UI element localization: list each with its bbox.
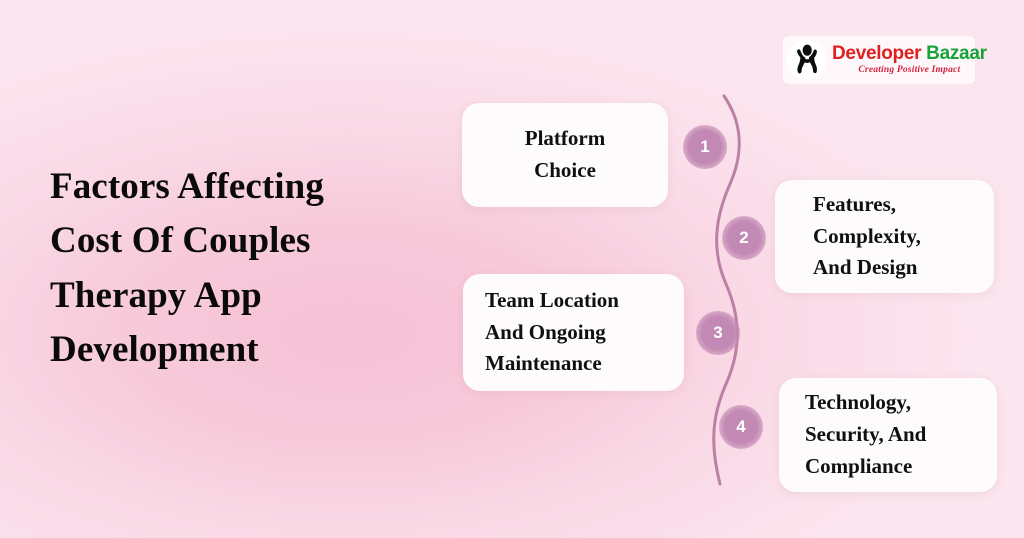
step-badge-4: 4 xyxy=(719,405,763,449)
factor-card-technology-security-compliance: Technology, Security, And Compliance xyxy=(779,378,997,492)
step-badge-2: 2 xyxy=(722,216,766,260)
person-figure-icon xyxy=(787,40,827,80)
step-badge-1: 1 xyxy=(683,125,727,169)
page-title: Factors Affecting Cost Of Couples Therap… xyxy=(50,160,430,378)
brand-logo-text: Developer Bazaar Creating Positive Impac… xyxy=(832,44,987,76)
heading-line-4: Development xyxy=(50,323,430,377)
factor-card-1-line-1: Platform xyxy=(525,123,605,155)
factor-card-3-text: Team Location And Ongoing Maintenance xyxy=(485,285,619,381)
factor-card-1-text: Platform Choice xyxy=(525,123,605,187)
factor-card-2-line-2: Complexity, xyxy=(813,221,921,253)
brand-wordmark: Developer Bazaar xyxy=(832,44,987,63)
factor-card-4-line-2: Security, And xyxy=(805,419,926,451)
factor-card-2-line-1: Features, xyxy=(813,189,921,221)
brand-logo: Developer Bazaar Creating Positive Impac… xyxy=(783,36,975,84)
factor-card-1-line-2: Choice xyxy=(525,155,605,187)
brand-tagline: Creating Positive Impact xyxy=(832,66,987,76)
brand-word-bazaar: Bazaar xyxy=(926,43,987,64)
heading-line-2: Cost Of Couples xyxy=(50,214,430,268)
factor-card-platform-choice: Platform Choice xyxy=(462,103,668,207)
step-badge-2-number: 2 xyxy=(739,228,748,248)
step-badge-4-number: 4 xyxy=(736,417,745,437)
factor-card-team-location-maintenance: Team Location And Ongoing Maintenance xyxy=(463,274,684,391)
step-badge-1-number: 1 xyxy=(700,137,709,157)
factor-card-3-line-3: Maintenance xyxy=(485,348,619,380)
factor-card-2-text: Features, Complexity, And Design xyxy=(813,189,921,285)
step-badge-3-number: 3 xyxy=(713,323,722,343)
factor-card-4-line-3: Compliance xyxy=(805,451,926,483)
factor-card-features-complexity-design: Features, Complexity, And Design xyxy=(775,180,994,293)
factor-card-2-line-3: And Design xyxy=(813,252,921,284)
factor-card-4-line-1: Technology, xyxy=(805,387,926,419)
brand-word-developer: Developer xyxy=(832,43,921,64)
infographic-canvas: Factors Affecting Cost Of Couples Therap… xyxy=(0,0,1024,538)
step-badge-3: 3 xyxy=(696,311,740,355)
heading-line-1: Factors Affecting xyxy=(50,160,430,214)
factor-card-3-line-1: Team Location xyxy=(485,285,619,317)
factor-card-3-line-2: And Ongoing xyxy=(485,317,619,349)
heading-line-3: Therapy App xyxy=(50,269,430,323)
factor-card-4-text: Technology, Security, And Compliance xyxy=(805,387,926,483)
